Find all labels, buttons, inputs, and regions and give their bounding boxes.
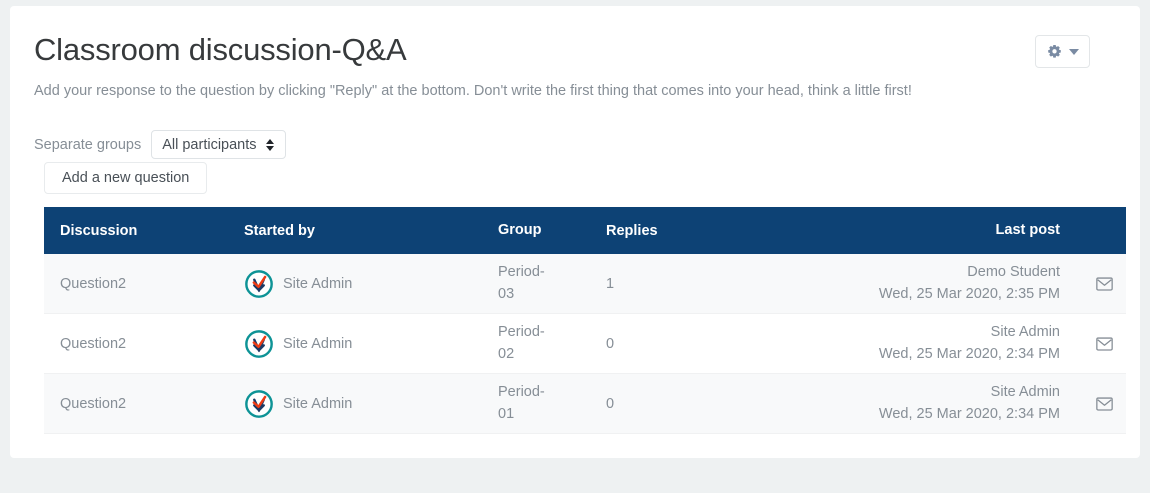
group-name-line1: Period- — [498, 382, 606, 403]
page-title: Classroom discussion-Q&A — [34, 32, 406, 68]
last-post-cell: Demo Student Wed, 25 Mar 2020, 2:35 PM — [726, 262, 1082, 304]
table-row[interactable]: Question2 Site Admin Period- 02 — [44, 314, 1126, 374]
user-avatar-icon — [244, 389, 274, 419]
group-name-line1: Period- — [498, 262, 606, 283]
discussions-table: Discussion Started by Group Replies Last… — [44, 207, 1126, 434]
group-select-value: All participants — [162, 137, 256, 153]
group-selector-row: Separate groups All participants — [34, 130, 286, 159]
last-post-author[interactable]: Site Admin — [726, 322, 1060, 343]
user-avatar-icon — [244, 329, 274, 359]
table-row[interactable]: Question2 Site Admin Period- 03 — [44, 254, 1126, 314]
group-cell: Period- 02 — [498, 322, 606, 364]
group-cell: Period- 03 — [498, 262, 606, 304]
author-name[interactable]: Site Admin — [283, 336, 352, 352]
started-by-cell: Site Admin — [244, 389, 498, 419]
discussion-title[interactable]: Question2 — [44, 276, 244, 292]
last-post-date[interactable]: Wed, 25 Mar 2020, 2:35 PM — [726, 284, 1060, 305]
column-header-started-by[interactable]: Started by — [244, 223, 498, 239]
subscribe-action-cell[interactable] — [1082, 277, 1126, 291]
replies-count: 0 — [606, 396, 726, 412]
column-header-last-post[interactable]: Last post — [726, 220, 1082, 241]
gear-icon — [1047, 44, 1062, 59]
select-updown-icon — [266, 139, 274, 151]
last-post-date[interactable]: Wed, 25 Mar 2020, 2:34 PM — [726, 404, 1060, 425]
discussion-title[interactable]: Question2 — [44, 336, 244, 352]
subscribe-action-cell[interactable] — [1082, 337, 1126, 351]
column-header-discussion[interactable]: Discussion — [44, 223, 244, 239]
table-row[interactable]: Question2 Site Admin Period- 01 — [44, 374, 1126, 434]
group-cell: Period- 01 — [498, 382, 606, 424]
column-header-replies[interactable]: Replies — [606, 223, 726, 239]
author-name[interactable]: Site Admin — [283, 276, 352, 292]
discussion-title[interactable]: Question2 — [44, 396, 244, 412]
column-header-group[interactable]: Group — [498, 220, 606, 241]
user-avatar-icon — [244, 269, 274, 299]
group-name-line2: 03 — [498, 284, 606, 305]
replies-count: 1 — [606, 276, 726, 292]
table-header-row: Discussion Started by Group Replies Last… — [44, 207, 1126, 254]
author-name[interactable]: Site Admin — [283, 396, 352, 412]
started-by-cell: Site Admin — [244, 269, 498, 299]
group-select[interactable]: All participants — [151, 130, 286, 159]
add-new-question-button[interactable]: Add a new question — [44, 162, 207, 194]
last-post-author[interactable]: Site Admin — [726, 382, 1060, 403]
group-name-line1: Period- — [498, 322, 606, 343]
settings-menu-button[interactable] — [1035, 35, 1090, 68]
subscribe-action-cell[interactable] — [1082, 397, 1126, 411]
envelope-icon[interactable] — [1096, 277, 1113, 291]
chevron-down-icon — [1069, 49, 1079, 55]
forum-card: Classroom discussion-Q&A Add your respon… — [10, 6, 1140, 458]
page-root: Classroom discussion-Q&A Add your respon… — [0, 0, 1150, 493]
envelope-icon[interactable] — [1096, 397, 1113, 411]
last-post-author[interactable]: Demo Student — [726, 262, 1060, 283]
replies-count: 0 — [606, 336, 726, 352]
separate-groups-label: Separate groups — [34, 137, 141, 153]
last-post-cell: Site Admin Wed, 25 Mar 2020, 2:34 PM — [726, 382, 1082, 424]
last-post-date[interactable]: Wed, 25 Mar 2020, 2:34 PM — [726, 344, 1060, 365]
forum-intro-text: Add your response to the question by cli… — [34, 83, 912, 99]
group-name-line2: 02 — [498, 344, 606, 365]
started-by-cell: Site Admin — [244, 329, 498, 359]
last-post-cell: Site Admin Wed, 25 Mar 2020, 2:34 PM — [726, 322, 1082, 364]
envelope-icon[interactable] — [1096, 337, 1113, 351]
group-name-line2: 01 — [498, 404, 606, 425]
